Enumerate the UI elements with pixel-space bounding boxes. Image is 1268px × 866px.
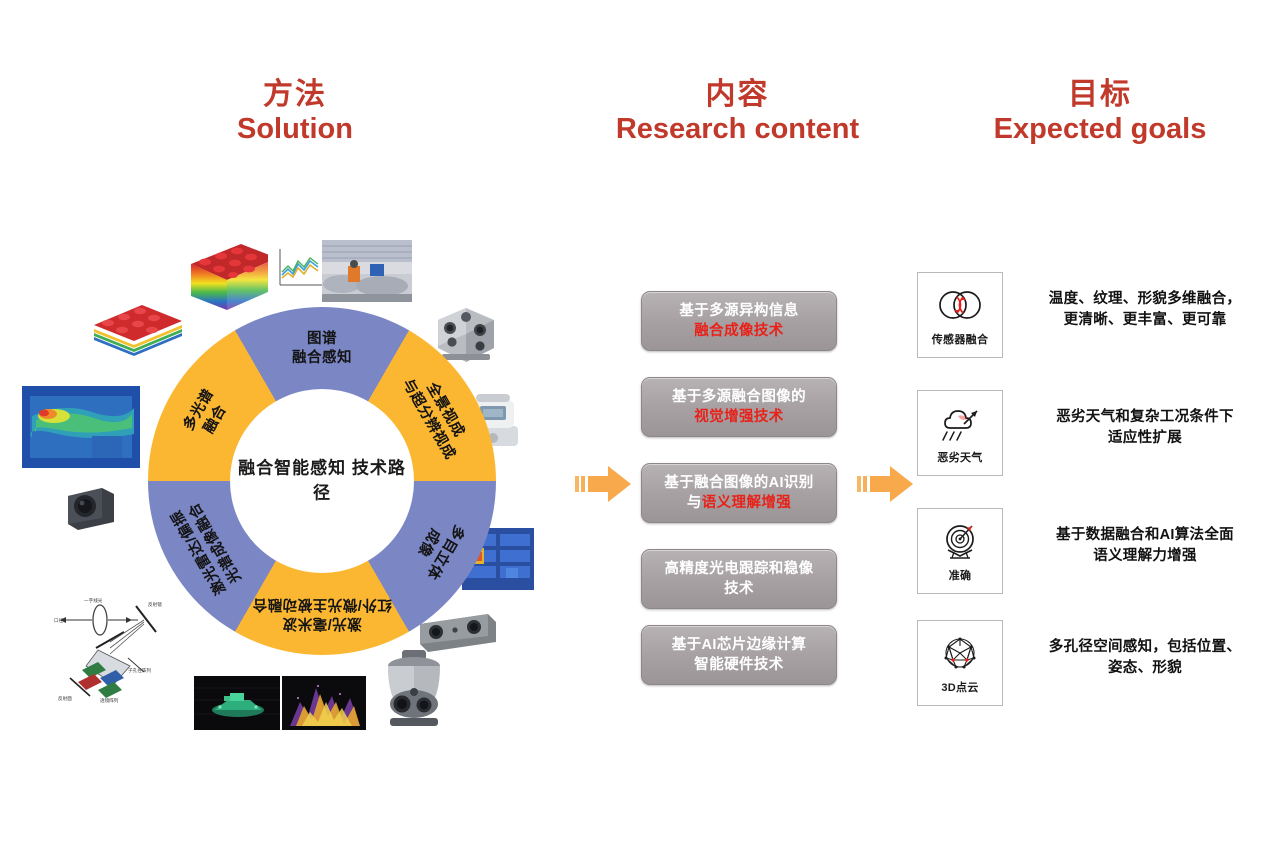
pipeline-inspection-thumb [322, 240, 412, 302]
header-en-goals: Expected goals [940, 113, 1260, 146]
column-header-content: 内容 Research content [575, 78, 900, 146]
content-box-text: 基于融合图像的AI识别 与语义理解增强 [664, 473, 813, 514]
thermal-image-thumb [22, 386, 140, 468]
content-box-line2: 视觉增强技术 [694, 409, 783, 425]
svg-text:口径: 口径 [54, 617, 64, 624]
content-box-line2-prefix: 与 [687, 495, 702, 511]
content-box-4[interactable]: 高精度光电跟踪和稳像 技术 [641, 549, 837, 609]
wheel-center-label: 融合智能感知 技术路径 [232, 456, 412, 505]
svg-text:子孔径阵列: 子孔径阵列 [128, 667, 151, 674]
bad-weather-icon [934, 402, 986, 446]
content-box-line1: 基于多源异构信息 [679, 303, 798, 319]
diagram-canvas: 方法 Solution 内容 Research content 目标 Expec… [0, 0, 1268, 866]
target-accuracy-icon [934, 520, 986, 564]
content-box-text: 基于多源异构信息 融合成像技术 [679, 301, 798, 342]
goal-card-label: 传感器融合 [932, 331, 989, 347]
hyperspectral-cube-thumb [185, 238, 281, 316]
goal-card-label: 准确 [949, 567, 972, 583]
content-box-line1: 基于多源融合图像的 [672, 389, 806, 405]
arrow-content-to-goals [857, 462, 915, 506]
arrow-solution-to-content [575, 462, 633, 506]
technology-path-wheel: 图谱 融合感知 全景视成 与超分辨视成 多目立体 成像 激光/毫米波 红外/微光… [148, 307, 496, 655]
header-en-solution: Solution [170, 113, 420, 146]
svg-text:一字线光: 一字线光 [84, 597, 103, 604]
point-cloud-icon [934, 632, 986, 676]
content-box-text: 基于多源融合图像的 视觉增强技术 [672, 387, 806, 428]
goal-desc-sensor-fusion: 温度、纹理、形貌多维融合， 更清晰、更丰富、更可靠 [1030, 289, 1260, 331]
thermal-camera-thumb [62, 482, 120, 534]
goal-desc-bad-weather: 恶劣天气和复杂工况条件下 适应性扩展 [1030, 407, 1260, 449]
goal-card-bad-weather[interactable]: 恶劣天气 [917, 390, 1003, 476]
goal-desc-accuracy: 基于数据融合和AI算法全面 语义理解力增强 [1030, 525, 1260, 567]
sensor-fusion-icon [934, 284, 986, 328]
goal-card-label: 3D点云 [941, 679, 978, 695]
goal-card-sensor-fusion[interactable]: 传感器融合 [917, 272, 1003, 358]
content-box-text: 高精度光电跟踪和稳像 技术 [665, 559, 814, 600]
header-cn-goals: 目标 [940, 78, 1260, 111]
column-header-goals: 目标 Expected goals [940, 78, 1260, 146]
content-box-line1: 高精度光电跟踪和稳像 [665, 561, 814, 577]
content-box-3[interactable]: 基于融合图像的AI识别 与语义理解增强 [641, 463, 837, 523]
goal-card-point-cloud[interactable]: 3D点云 [917, 620, 1003, 706]
gimbal-sensor-thumb [372, 648, 458, 734]
content-box-line1: 基于融合图像的AI识别 [664, 475, 813, 491]
content-box-text: 基于AI芯片边缘计算 智能硬件技术 [672, 635, 807, 676]
pointcloud-color-thumb [282, 676, 366, 730]
content-box-line2: 融合成像技术 [694, 323, 783, 339]
content-box-1[interactable]: 基于多源异构信息 融合成像技术 [641, 291, 837, 351]
svg-text:反射面: 反射面 [58, 695, 72, 702]
pointcloud-display-thumb [194, 676, 280, 730]
content-box-line2: 语义理解增强 [702, 495, 791, 511]
content-box-line1: 基于AI芯片边缘计算 [672, 637, 807, 653]
header-cn-solution: 方法 [170, 78, 420, 111]
content-box-5[interactable]: 基于AI芯片边缘计算 智能硬件技术 [641, 625, 837, 685]
header-en-content: Research content [575, 113, 900, 146]
header-cn-content: 内容 [575, 78, 900, 111]
spectrum-plot-thumb [268, 243, 328, 299]
goal-card-accuracy[interactable]: 准确 [917, 508, 1003, 594]
content-box-2[interactable]: 基于多源融合图像的 视觉增强技术 [641, 377, 837, 437]
goal-card-label: 恶劣天气 [937, 449, 982, 465]
goal-desc-point-cloud: 多孔径空间感知，包括位置、 姿态、形貌 [1030, 637, 1260, 679]
content-box-line2: 智能硬件技术 [694, 657, 783, 673]
column-header-solution: 方法 Solution [170, 78, 420, 146]
content-box-line2: 技术 [724, 581, 754, 597]
svg-text:透镜阵列: 透镜阵列 [100, 697, 119, 704]
